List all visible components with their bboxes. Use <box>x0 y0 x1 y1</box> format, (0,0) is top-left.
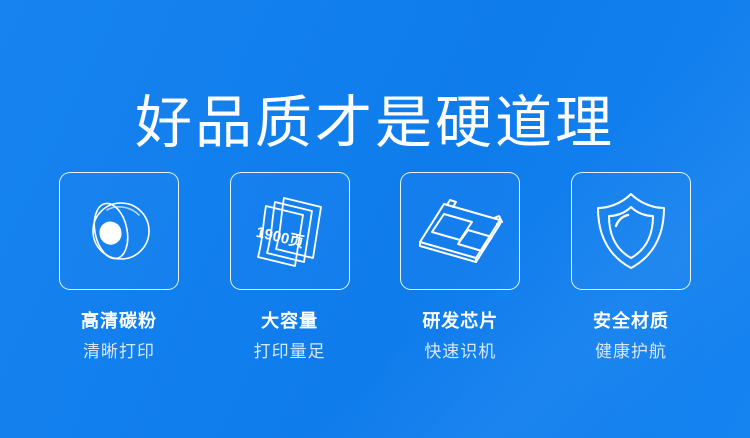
feature-subtitle: 打印量足 <box>220 339 360 364</box>
shield-icon <box>592 189 670 273</box>
chip-board-icon <box>414 196 506 266</box>
feature-item: 高清碳粉 清晰打印 <box>57 172 181 364</box>
feature-icon-card <box>400 172 520 290</box>
feature-item: 研发芯片 快速识机 <box>398 172 522 364</box>
paper-count-text: 1900页 <box>254 224 305 251</box>
feature-labels: 安全材质 健康护航 <box>561 308 701 364</box>
feature-title: 大容量 <box>220 308 360 334</box>
feature-item: 1900页 大容量 打印量足 <box>228 172 352 364</box>
feature-subtitle: 健康护航 <box>561 339 701 364</box>
feature-icon-card <box>571 172 691 290</box>
feature-labels: 高清碳粉 清晰打印 <box>49 308 189 364</box>
feature-title: 安全材质 <box>561 308 701 334</box>
toner-sphere-icon <box>77 189 161 273</box>
feature-icon-card <box>59 172 179 290</box>
feature-icon-card: 1900页 <box>230 172 350 290</box>
feature-subtitle: 清晰打印 <box>49 339 189 364</box>
feature-title: 高清碳粉 <box>49 308 189 334</box>
paper-stack-icon: 1900页 <box>247 188 333 274</box>
promo-banner: 好品质才是硬道理 <box>0 0 750 438</box>
feature-labels: 研发芯片 快速识机 <box>390 308 530 364</box>
page-title: 好品质才是硬道理 <box>135 90 615 156</box>
feature-title: 研发芯片 <box>390 308 530 334</box>
feature-item: 安全材质 健康护航 <box>569 172 693 364</box>
feature-list: 高清碳粉 清晰打印 1900页 <box>57 172 693 364</box>
feature-labels: 大容量 打印量足 <box>220 308 360 364</box>
feature-subtitle: 快速识机 <box>390 339 530 364</box>
